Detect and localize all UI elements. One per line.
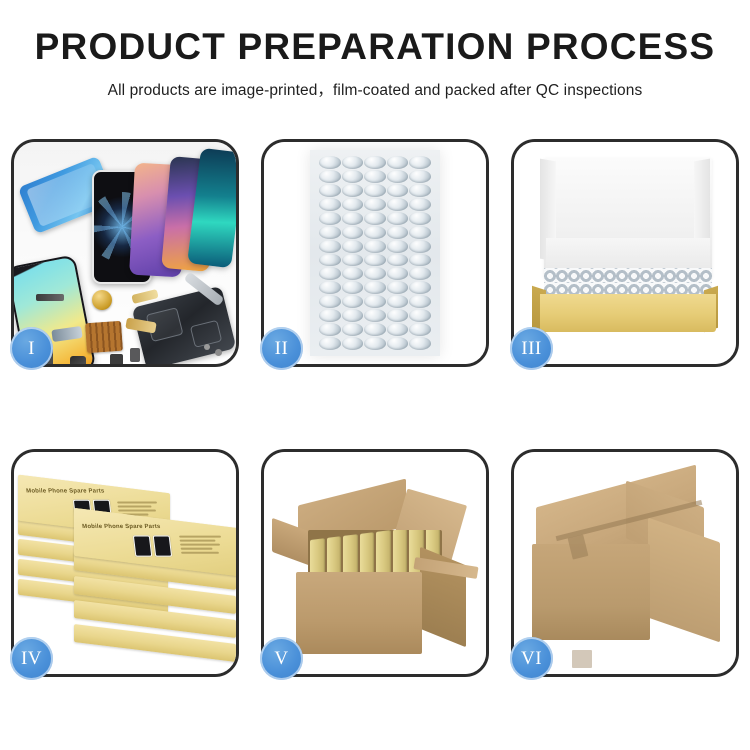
retail-box-stack: Mobile Phone Spare Parts <box>18 470 236 666</box>
bubble <box>364 156 386 169</box>
bubble <box>387 267 409 280</box>
bubble <box>319 156 341 169</box>
bubble <box>364 184 386 197</box>
bubble <box>364 170 386 183</box>
bubble <box>387 226 409 239</box>
bubble <box>342 184 364 197</box>
process-step-panel-1: I <box>11 139 239 367</box>
bubble <box>387 198 409 211</box>
step-badge-3: III <box>510 327 553 370</box>
process-step-panel-6: VI <box>511 449 739 677</box>
camera-module-part-icon <box>70 356 86 364</box>
bubble <box>342 254 364 267</box>
box-label-text: Mobile Phone Spare Parts <box>26 488 105 494</box>
bubble <box>364 240 386 253</box>
bubble <box>387 254 409 267</box>
box-thumbnails <box>133 535 172 556</box>
bubble <box>319 281 341 294</box>
page-title: PRODUCT PREPARATION PROCESS <box>0 28 750 65</box>
button-part-icon <box>130 348 140 362</box>
bubble <box>387 337 409 350</box>
camera-ring-part-icon <box>92 290 112 310</box>
bubble <box>319 323 341 336</box>
bubble <box>364 254 386 267</box>
bubble <box>409 295 431 308</box>
process-step-grid: I II III <box>11 139 739 677</box>
bubble <box>342 212 364 225</box>
bubble <box>387 170 409 183</box>
bubble <box>319 198 341 211</box>
step-badge-5: V <box>260 637 303 680</box>
bubble <box>409 267 431 280</box>
bubble <box>409 281 431 294</box>
bubble <box>409 156 431 169</box>
bubble <box>409 240 431 253</box>
infographic-page: PRODUCT PREPARATION PROCESS All products… <box>0 0 750 750</box>
process-step-panel-2: II <box>261 139 489 367</box>
process-step-panel-5: V <box>261 449 489 677</box>
screw-part-icon <box>204 344 210 350</box>
bubble <box>364 226 386 239</box>
bubble <box>409 309 431 322</box>
bubble <box>342 170 364 183</box>
step-badge-2: II <box>260 327 303 370</box>
bubble <box>364 337 386 350</box>
bubble <box>342 323 364 336</box>
step-1-image <box>14 142 236 364</box>
bubble <box>364 198 386 211</box>
step-badge-4: IV <box>10 637 53 680</box>
process-step-panel-3: III <box>511 139 739 367</box>
bubble-grid <box>319 156 431 350</box>
speaker-mesh-part-icon <box>36 294 64 301</box>
bubble <box>387 212 409 225</box>
vibrator-part-icon <box>110 354 123 364</box>
step-2-image <box>264 142 486 364</box>
bubble <box>342 281 364 294</box>
bubble <box>342 267 364 280</box>
box-label-text: Mobile Phone Spare Parts <box>82 524 161 530</box>
bubble <box>342 240 364 253</box>
bubble <box>409 226 431 239</box>
sealed-carton-side-panel <box>648 518 720 643</box>
bubble <box>342 156 364 169</box>
mailer-front-panel <box>540 294 716 332</box>
bubble <box>342 226 364 239</box>
bubble-wrap-pouch-icon <box>310 150 440 356</box>
bubble <box>364 295 386 308</box>
bubble <box>387 309 409 322</box>
bubble <box>387 323 409 336</box>
bubble <box>409 184 431 197</box>
bubble <box>409 337 431 350</box>
bubble <box>319 170 341 183</box>
bubble <box>409 198 431 211</box>
screw-part-icon <box>215 349 222 356</box>
step-5-image <box>264 452 486 674</box>
bubble <box>319 226 341 239</box>
step-badge-1: I <box>10 327 53 370</box>
process-step-panel-4: Mobile Phone Spare Parts <box>11 449 239 677</box>
screw-tray-part-icon <box>85 321 123 353</box>
bubble <box>387 281 409 294</box>
bubble <box>387 156 409 169</box>
bubble <box>364 309 386 322</box>
header: PRODUCT PREPARATION PROCESS All products… <box>0 0 750 100</box>
carton-front-panel <box>296 572 422 654</box>
bubble <box>387 240 409 253</box>
bubble <box>364 323 386 336</box>
bubble <box>319 267 341 280</box>
bubble <box>342 295 364 308</box>
sealed-carton-front-panel <box>532 544 650 640</box>
bubble <box>387 184 409 197</box>
bubble <box>319 309 341 322</box>
bubble <box>342 309 364 322</box>
bubble <box>319 184 341 197</box>
carton-tape-mark-bottom <box>572 650 592 668</box>
phone-thumbnail-icon <box>153 535 172 556</box>
step-badge-6: VI <box>510 637 553 680</box>
bubble <box>319 212 341 225</box>
step-3-image <box>514 142 736 364</box>
bubble <box>387 295 409 308</box>
bubble <box>319 240 341 253</box>
step-6-image <box>514 452 736 674</box>
bubble <box>409 170 431 183</box>
bubble <box>364 281 386 294</box>
bubble <box>409 212 431 225</box>
bubble <box>409 254 431 267</box>
bubble <box>342 337 364 350</box>
phone-thumbnail-icon <box>133 535 152 556</box>
bubble <box>319 295 341 308</box>
bubble <box>342 198 364 211</box>
bubble <box>364 212 386 225</box>
page-subtitle: All products are image-printed，film-coat… <box>0 78 750 100</box>
bubble <box>319 337 341 350</box>
bubble <box>409 323 431 336</box>
box-spec-lines <box>179 536 225 554</box>
bubble <box>364 267 386 280</box>
step-4-image: Mobile Phone Spare Parts <box>14 452 236 674</box>
bubble <box>319 254 341 267</box>
